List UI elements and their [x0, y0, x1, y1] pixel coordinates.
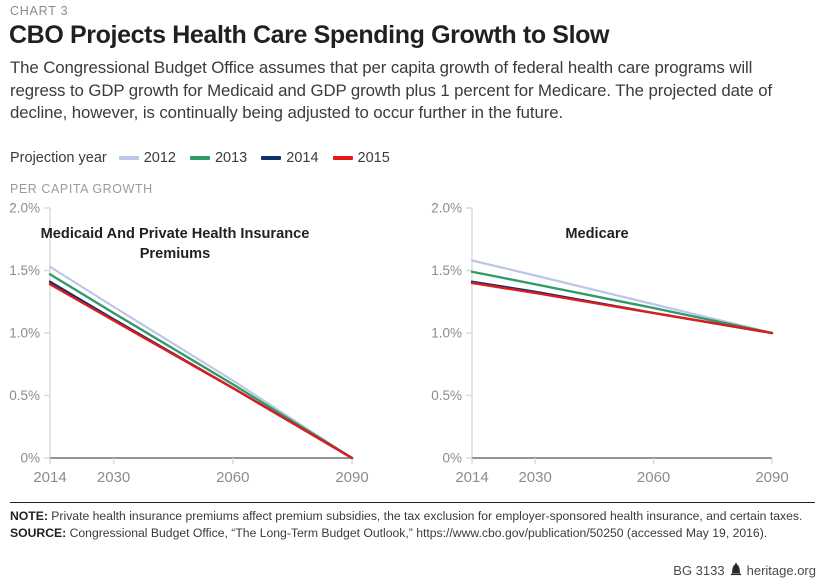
y-axis-units-label: PER CAPITA GROWTH: [10, 182, 153, 196]
colophon: BG 3133 heritage.org: [673, 563, 816, 578]
y-tick-label: 1.5%: [9, 263, 40, 278]
y-tick-label: 1.0%: [431, 326, 462, 341]
source-label: SOURCE:: [10, 526, 66, 540]
footer-notes: NOTE: Private health insurance premiums …: [10, 508, 818, 541]
legend-title: Projection year: [10, 150, 107, 166]
legend-swatch-2012: [119, 156, 139, 160]
legend: Projection year 2012 2013 2014 2015: [10, 150, 404, 166]
legend-label-2012: 2012: [144, 150, 176, 166]
x-tick-label: 2014: [33, 469, 66, 486]
y-tick-label: 1.0%: [9, 326, 40, 341]
y-tick-label: 1.5%: [431, 263, 462, 278]
note-line: NOTE: Private health insurance premiums …: [10, 508, 818, 525]
source-line: SOURCE: Congressional Budget Office, “Th…: [10, 525, 818, 542]
x-tick-label: 2014: [455, 469, 488, 486]
line-chart-medicare: 0%0.5%1.0%1.5%2.0%2014203020602090: [412, 198, 825, 488]
y-tick-label: 0%: [442, 451, 462, 466]
chart-kicker: CHART 3: [10, 4, 68, 18]
site-label: heritage.org: [747, 563, 816, 578]
series-line-2013: [472, 272, 772, 333]
legend-label-2014: 2014: [286, 150, 318, 166]
series-line-2015: [472, 283, 772, 333]
note-label: NOTE:: [10, 509, 48, 523]
x-tick-label: 2030: [518, 469, 551, 486]
note-text: Private health insurance premiums affect…: [48, 509, 802, 523]
chart-panels: 0%0.5%1.0%1.5%2.0%2014203020602090 Medic…: [0, 198, 825, 488]
x-tick-label: 2030: [97, 469, 130, 486]
chart-page: CHART 3 CBO Projects Health Care Spendin…: [0, 0, 825, 587]
legend-item-2012[interactable]: 2012: [119, 150, 176, 166]
x-tick-label: 2060: [637, 469, 670, 486]
x-tick-label: 2090: [755, 469, 788, 486]
series-line-2012: [472, 261, 772, 334]
legend-item-2015[interactable]: 2015: [333, 150, 390, 166]
y-tick-label: 2.0%: [9, 201, 40, 216]
legend-label-2013: 2013: [215, 150, 247, 166]
legend-swatch-2014: [261, 156, 281, 160]
x-tick-label: 2090: [335, 469, 368, 486]
liberty-bell-icon: [730, 563, 742, 578]
legend-label-2015: 2015: [358, 150, 390, 166]
legend-item-2014[interactable]: 2014: [261, 150, 318, 166]
source-text: Congressional Budget Office, “The Long-T…: [66, 526, 767, 540]
report-id: BG 3133: [673, 563, 724, 578]
legend-swatch-2013: [190, 156, 210, 160]
legend-item-2013[interactable]: 2013: [190, 150, 247, 166]
chart-panel-medicare: 0%0.5%1.0%1.5%2.0%2014203020602090 Medic…: [412, 198, 825, 488]
y-tick-label: 0%: [20, 451, 40, 466]
chart-deck: The Congressional Budget Office assumes …: [10, 57, 810, 125]
line-chart-medicaid: 0%0.5%1.0%1.5%2.0%2014203020602090: [0, 198, 415, 488]
y-tick-label: 0.5%: [9, 388, 40, 403]
y-tick-label: 0.5%: [431, 388, 462, 403]
legend-swatch-2015: [333, 156, 353, 160]
chart-panel-medicaid: 0%0.5%1.0%1.5%2.0%2014203020602090 Medic…: [0, 198, 415, 488]
x-tick-label: 2060: [216, 469, 249, 486]
series-line-2015: [50, 284, 352, 458]
footer-divider: [10, 502, 815, 503]
page-title: CBO Projects Health Care Spending Growth…: [9, 21, 609, 50]
y-tick-label: 2.0%: [431, 201, 462, 216]
